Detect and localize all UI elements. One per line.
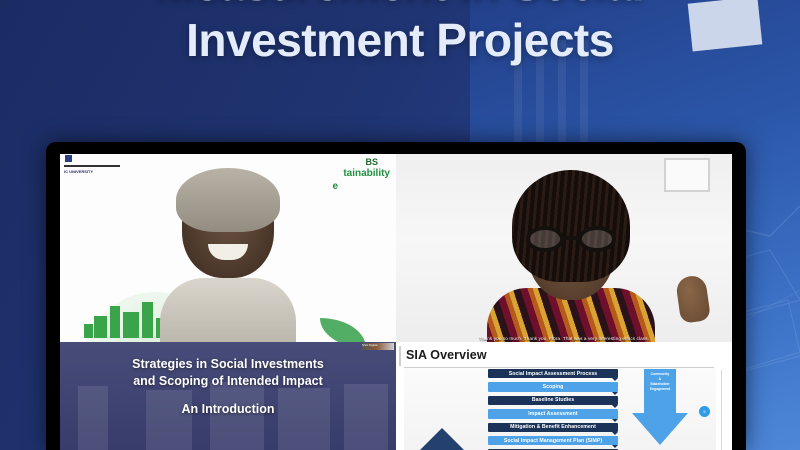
slide-tile-left[interactable]: Shot Digital Strategies in Social Invest… xyxy=(60,342,396,450)
participant-left-figure xyxy=(167,174,289,342)
community-engagement-arrow: Community & Stakeholder Engagement xyxy=(632,369,688,447)
university-logo-text: IC UNIVERSITY xyxy=(64,169,93,174)
slide-right-heading: SIA Overview xyxy=(406,348,487,362)
video-call-screen: IC UNIVERSITY BS tainability e xyxy=(60,154,732,450)
slide-left-hall-5 xyxy=(344,384,388,450)
participant-right-figure xyxy=(501,170,641,342)
flow-step-6: Social Impact Management Plan (SIMP) xyxy=(488,436,618,445)
flow-step-3: Baseline Studies xyxy=(488,396,618,405)
flow-arrow-2 xyxy=(612,392,618,395)
vbg-city-4 xyxy=(142,302,153,338)
slide-right-accent-bar xyxy=(399,346,401,366)
vbg-green-text-3: e xyxy=(332,181,338,192)
flow-arrow-3 xyxy=(612,405,618,408)
community-engagement-arrow-label: Community & Stakeholder Engagement xyxy=(645,372,675,392)
vbg-city-1 xyxy=(94,316,107,338)
slide-left-title: Strategies in Social Investments and Sco… xyxy=(60,356,396,390)
vbg-city-3 xyxy=(123,312,139,338)
university-logo: IC UNIVERSITY xyxy=(64,156,120,174)
video-tile-left[interactable]: IC UNIVERSITY BS tainability e xyxy=(60,154,396,342)
slide-left-hall-4 xyxy=(278,388,330,450)
slide-left-hall-3 xyxy=(210,382,264,450)
flow-arrow-4 xyxy=(612,419,618,422)
vbg-city-2 xyxy=(110,306,120,338)
slide-left-hall-2 xyxy=(146,390,192,450)
live-caption: Thank you so much. Thank you, Flora. Tha… xyxy=(396,336,732,341)
sia-flowchart: Social Impact Assessment ProcessScopingB… xyxy=(488,369,618,450)
slide-right-edge-line xyxy=(721,370,722,450)
slide-right-navy-triangle xyxy=(408,428,476,450)
vbg-city-6 xyxy=(84,324,93,338)
flow-step-2: Scoping xyxy=(488,382,618,391)
vbg-green-text-1: BS xyxy=(365,157,378,167)
flow-arrow-6 xyxy=(612,445,618,448)
flow-step-4: Impact Assessment xyxy=(488,409,618,418)
slide-right-divider xyxy=(404,367,714,368)
flow-arrow-5 xyxy=(612,432,618,435)
slide-left-thumbnail-strip: Shot Digital xyxy=(362,343,394,350)
slide-left-hall-1 xyxy=(78,386,108,450)
device-frame: IC UNIVERSITY BS tainability e xyxy=(46,142,746,450)
glasses-icon xyxy=(526,226,616,252)
page-title: Measurement in Social Investment Project… xyxy=(0,0,800,68)
flow-step-1: Social Impact Assessment Process xyxy=(488,369,618,378)
video-tile-right[interactable]: Thank you so much. Thank you, Flora. Tha… xyxy=(396,154,732,342)
slide-left-subtitle: An Introduction xyxy=(60,402,396,416)
flow-arrow-1 xyxy=(612,378,618,381)
slide-tile-right[interactable]: SIA Overview Social Impact Assessment Pr… xyxy=(396,342,732,450)
flow-step-5: Mitigation & Benefit Enhancement xyxy=(488,423,618,432)
vbg-leaf-graphic xyxy=(320,318,366,342)
wall-picture-frame xyxy=(664,158,710,192)
vbg-green-text-2: tainability xyxy=(343,168,390,179)
slide-number-badge[interactable]: 5 xyxy=(699,406,710,417)
